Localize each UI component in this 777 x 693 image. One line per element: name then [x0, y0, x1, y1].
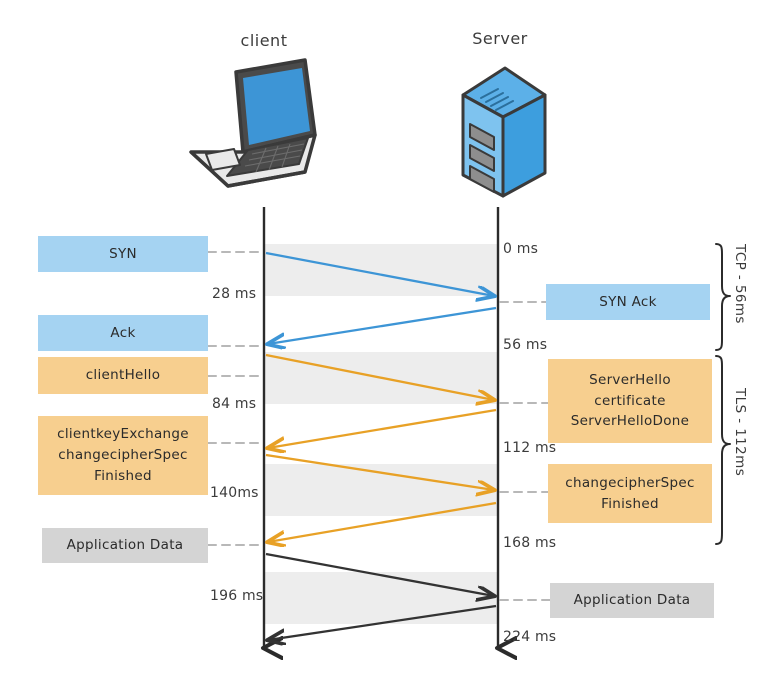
arrow-server-hello [268, 410, 496, 448]
arrow-app-data-client [266, 554, 494, 596]
arrow-client-key-exchange [266, 455, 494, 490]
timestamp-112ms: 112 ms [503, 440, 556, 456]
message-line: changecipherSpec [58, 445, 188, 466]
message-box-server-ccs[interactable]: changecipherSpec Finished [548, 464, 712, 523]
sequence-diagram: client Server SYN Ack clientHello client… [0, 0, 777, 693]
message-line: Finished [94, 466, 152, 487]
message-line: changecipherSpec [565, 473, 695, 494]
timestamp-0ms: 0 ms [503, 241, 538, 257]
arrow-server-ccs [268, 503, 496, 542]
message-line: SYN [109, 244, 137, 265]
message-line: clientHello [86, 365, 161, 386]
message-line: ServerHelloDone [571, 411, 690, 432]
timestamp-84ms: 84 ms [212, 396, 256, 412]
message-line: SYN Ack [599, 292, 657, 313]
message-box-client-key-exchange[interactable]: clientkeyExchange changecipherSpec Finis… [38, 416, 208, 495]
arrow-syn [266, 253, 494, 296]
message-line: ServerHello [589, 370, 671, 391]
timestamp-168ms: 168 ms [503, 535, 556, 551]
message-box-server-hello[interactable]: ServerHello certificate ServerHelloDone [548, 359, 712, 443]
message-line: clientkeyExchange [57, 424, 189, 445]
message-line: Ack [110, 323, 135, 344]
timestamp-196ms: 196 ms [210, 588, 263, 604]
message-line: Application Data [67, 535, 184, 556]
tcp-phase-label: TCP - 56ms [732, 244, 748, 324]
timestamp-224ms: 224 ms [503, 629, 556, 645]
message-box-syn[interactable]: SYN [38, 236, 208, 272]
tls-phase-brace [716, 356, 730, 544]
message-box-syn-ack[interactable]: SYN Ack [546, 284, 710, 320]
tls-phase-label: TLS - 112ms [732, 388, 748, 476]
tcp-phase-brace [716, 244, 730, 350]
message-box-app-data-server[interactable]: Application Data [550, 583, 714, 618]
message-line: Application Data [574, 590, 691, 611]
timestamp-56ms: 56 ms [503, 337, 547, 353]
message-line: Finished [601, 494, 659, 515]
arrow-syn-ack [268, 308, 496, 344]
arrow-client-hello [266, 355, 494, 400]
timestamp-140ms: 140ms [210, 485, 259, 501]
arrow-app-data-server [268, 606, 496, 640]
timestamp-28ms: 28 ms [212, 286, 256, 302]
message-line: certificate [594, 391, 665, 412]
message-box-ack[interactable]: Ack [38, 315, 208, 351]
message-box-app-data-client[interactable]: Application Data [42, 528, 208, 563]
message-box-client-hello[interactable]: clientHello [38, 357, 208, 394]
